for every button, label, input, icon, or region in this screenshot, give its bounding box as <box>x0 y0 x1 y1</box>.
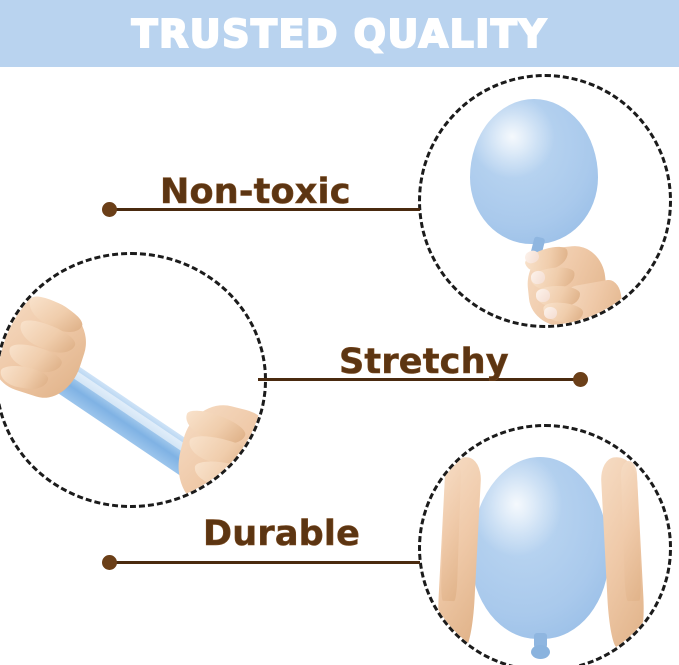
photo-hands-pressing-balloon <box>421 427 669 665</box>
feature-photo-circle-durable <box>418 424 672 665</box>
balloon-icon <box>470 99 598 244</box>
photo-hand-holding-balloon <box>421 77 669 325</box>
feature-label-durable: Durable <box>203 514 360 554</box>
connector-dot-nontoxic <box>102 202 117 217</box>
connector-line-durable <box>108 561 420 564</box>
page-title: TRUSTED QUALITY <box>0 0 679 67</box>
feature-label-stretchy: Stretchy <box>339 342 509 382</box>
balloon-icon <box>471 457 609 639</box>
fingernail <box>536 289 550 302</box>
connector-dot-stretchy <box>573 372 588 387</box>
connector-dot-durable <box>102 555 117 570</box>
photo-hands-stretching-balloon <box>0 255 264 505</box>
feature-photo-circle-stretchy <box>0 252 267 508</box>
feature-photo-circle-nontoxic <box>418 74 672 328</box>
balloon-knot-icon <box>531 645 550 659</box>
feature-label-nontoxic: Non-toxic <box>160 172 351 212</box>
trusted-quality-infographic: TRUSTED QUALITY <box>0 0 679 665</box>
